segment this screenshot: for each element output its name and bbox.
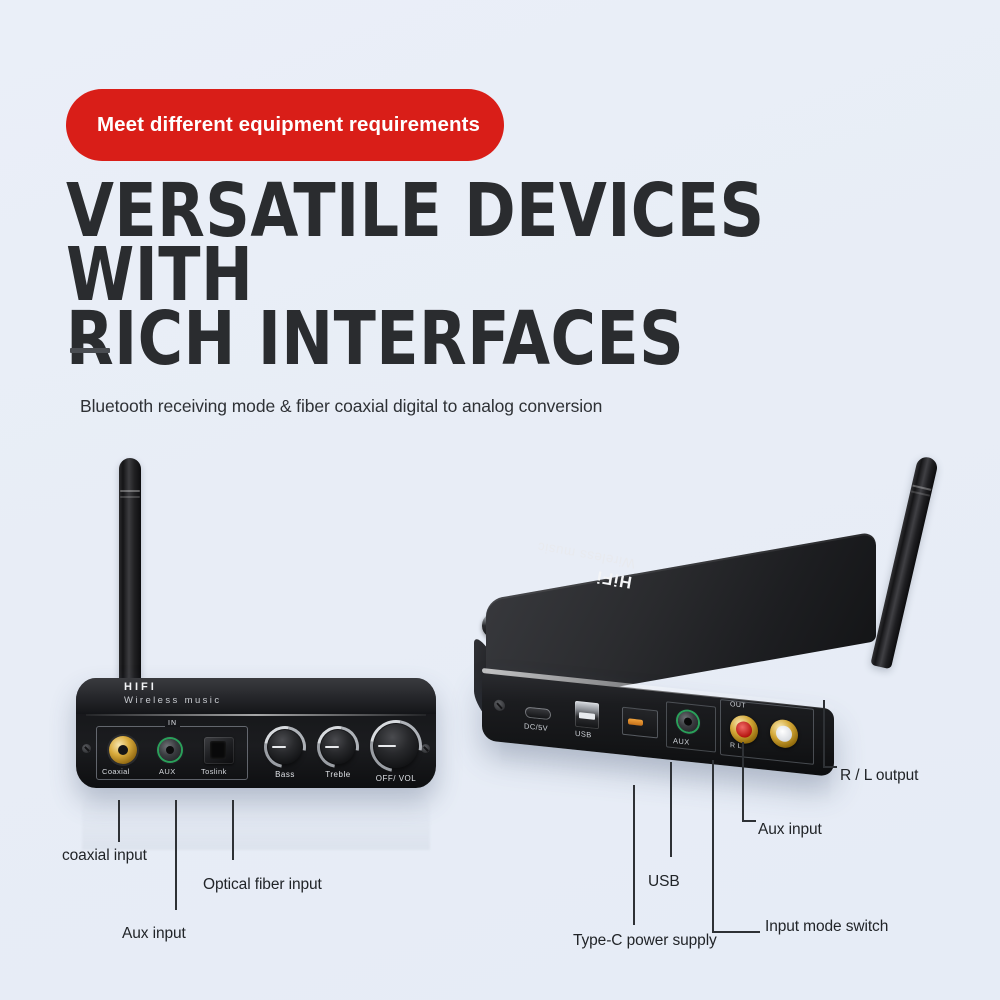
- input-group-label: IN: [165, 720, 180, 727]
- aux-jack-label: AUX: [159, 767, 176, 776]
- leader-elbow-rl-output: [823, 766, 837, 768]
- leader-line-coaxial: [118, 800, 120, 842]
- antenna-right: [870, 455, 939, 669]
- left-device-reflection: [82, 790, 430, 850]
- usb-c-port-label: DC/5V: [524, 721, 548, 733]
- callout-type-c-power: Type-C power supply: [573, 932, 717, 950]
- subtitle: Bluetooth receiving mode & fiber coaxial…: [80, 396, 602, 417]
- treble-knob[interactable]: [321, 730, 355, 764]
- treble-knob-label: Treble: [315, 770, 361, 779]
- headline-line-2: RICH INTERFACES: [66, 307, 884, 371]
- callout-aux-input-left: Aux input: [122, 925, 186, 943]
- left-device-body: HIFI Wireless music IN Coaxial AUX Tosli…: [76, 678, 436, 788]
- usb-c-power-port[interactable]: [525, 707, 551, 721]
- input-mode-switch[interactable]: [622, 707, 658, 739]
- toslink-optical-port[interactable]: [204, 737, 234, 764]
- leader-line-aux-left: [175, 800, 177, 910]
- left-device-trim-line: [86, 714, 426, 716]
- coaxial-input-jack[interactable]: [109, 736, 137, 764]
- screw-icon-rear: [494, 699, 505, 711]
- right-device-rear-view: HiFi Wireless music DC/5V USB AUX OUT R …: [470, 440, 940, 810]
- banner-pill: Meet different equipment requirements: [66, 89, 504, 161]
- leader-line-type-c: [633, 785, 635, 925]
- right-device-branding: HiFi Wireless music: [532, 539, 636, 592]
- title-divider-dash: [70, 348, 110, 353]
- left-device-brand: HIFI: [124, 681, 157, 693]
- callout-usb: USB: [648, 873, 680, 891]
- leader-line-aux-right: [742, 742, 744, 822]
- leader-elbow-mode-switch: [712, 931, 760, 933]
- leader-line-mode-switch: [712, 760, 714, 933]
- toslink-port-label: Toslink: [201, 767, 227, 776]
- page-canvas: Meet different equipment requirements VE…: [0, 0, 1000, 1000]
- volume-knob-label: OFF/ VOL: [368, 774, 424, 783]
- leader-elbow-aux-right: [742, 820, 756, 822]
- leader-line-rl-output: [823, 700, 825, 768]
- banner-label: Meet different equipment requirements: [66, 113, 480, 137]
- aux-jack-rear-label: AUX: [673, 736, 690, 747]
- left-device-tagline: Wireless music: [124, 695, 221, 706]
- screw-icon-left: [82, 744, 91, 753]
- callout-coaxial-input: coaxial input: [62, 847, 147, 865]
- page-title: VERSATILE DEVICES WITH RICH INTERFACES: [66, 179, 884, 371]
- leader-line-usb: [670, 762, 672, 857]
- input-port-group: IN Coaxial AUX Toslink: [96, 726, 248, 780]
- bass-knob-label: Bass: [262, 770, 308, 779]
- bass-knob[interactable]: [268, 730, 302, 764]
- left-device-front-view: HIFI Wireless music IN Coaxial AUX Tosli…: [70, 450, 450, 810]
- coaxial-jack-label: Coaxial: [102, 767, 130, 776]
- usb-a-port[interactable]: [575, 701, 599, 730]
- leader-line-optical: [232, 800, 234, 860]
- callout-optical-fiber-input: Optical fiber input: [203, 876, 322, 894]
- callout-aux-input-right: Aux input: [758, 821, 822, 839]
- callout-rl-output: R / L output: [840, 767, 918, 785]
- antenna-left: [119, 458, 141, 693]
- volume-power-knob[interactable]: [374, 724, 418, 768]
- rca-rl-label: R L: [730, 742, 742, 750]
- callout-input-mode-switch: Input mode switch: [765, 918, 888, 936]
- usb-a-port-label: USB: [575, 729, 592, 740]
- aux-input-jack[interactable]: [159, 739, 181, 761]
